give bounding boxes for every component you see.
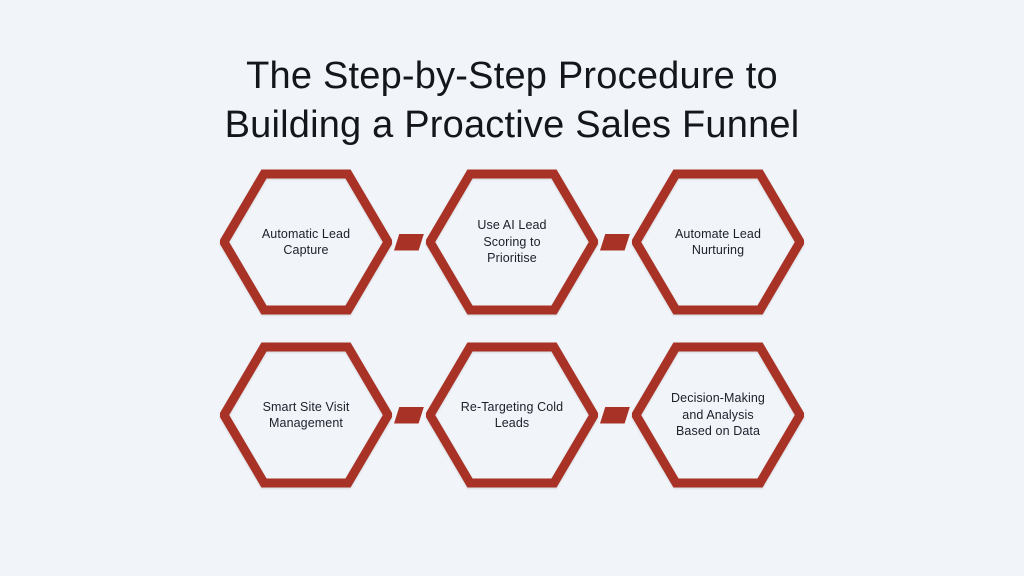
process-step-6[interactable]: Decision-Making and Analysis Based on Da… xyxy=(632,341,804,489)
process-row-1: Automatic Lead Capture Use AI Lead Scori… xyxy=(0,157,1024,327)
title-line-2: Building a Proactive Sales Funnel xyxy=(0,101,1024,150)
process-step-5-label: Re-Targeting Cold Leads xyxy=(456,341,568,489)
process-step-4-label: Smart Site Visit Management xyxy=(250,341,362,489)
page-title: The Step-by-Step Procedure to Building a… xyxy=(0,52,1024,150)
process-step-1-label: Automatic Lead Capture xyxy=(250,168,362,316)
process-step-2-label: Use AI Lead Scoring to Prioritise xyxy=(456,168,568,316)
process-step-6-label: Decision-Making and Analysis Based on Da… xyxy=(662,341,774,489)
process-step-4[interactable]: Smart Site Visit Management xyxy=(220,341,392,489)
connector-4-5 xyxy=(394,407,424,424)
process-step-1[interactable]: Automatic Lead Capture xyxy=(220,168,392,316)
slide-canvas: The Step-by-Step Procedure to Building a… xyxy=(0,0,1024,576)
process-step-2[interactable]: Use AI Lead Scoring to Prioritise xyxy=(426,168,598,316)
connector-5-6 xyxy=(600,407,630,424)
connector-1-2 xyxy=(394,234,424,251)
title-line-1: The Step-by-Step Procedure to xyxy=(0,52,1024,101)
process-row-2: Smart Site Visit Management Re-Targeting… xyxy=(0,330,1024,500)
process-step-3-label: Automate Lead Nurturing xyxy=(662,168,774,316)
process-step-3[interactable]: Automate Lead Nurturing xyxy=(632,168,804,316)
process-step-5[interactable]: Re-Targeting Cold Leads xyxy=(426,341,598,489)
connector-2-3 xyxy=(600,234,630,251)
